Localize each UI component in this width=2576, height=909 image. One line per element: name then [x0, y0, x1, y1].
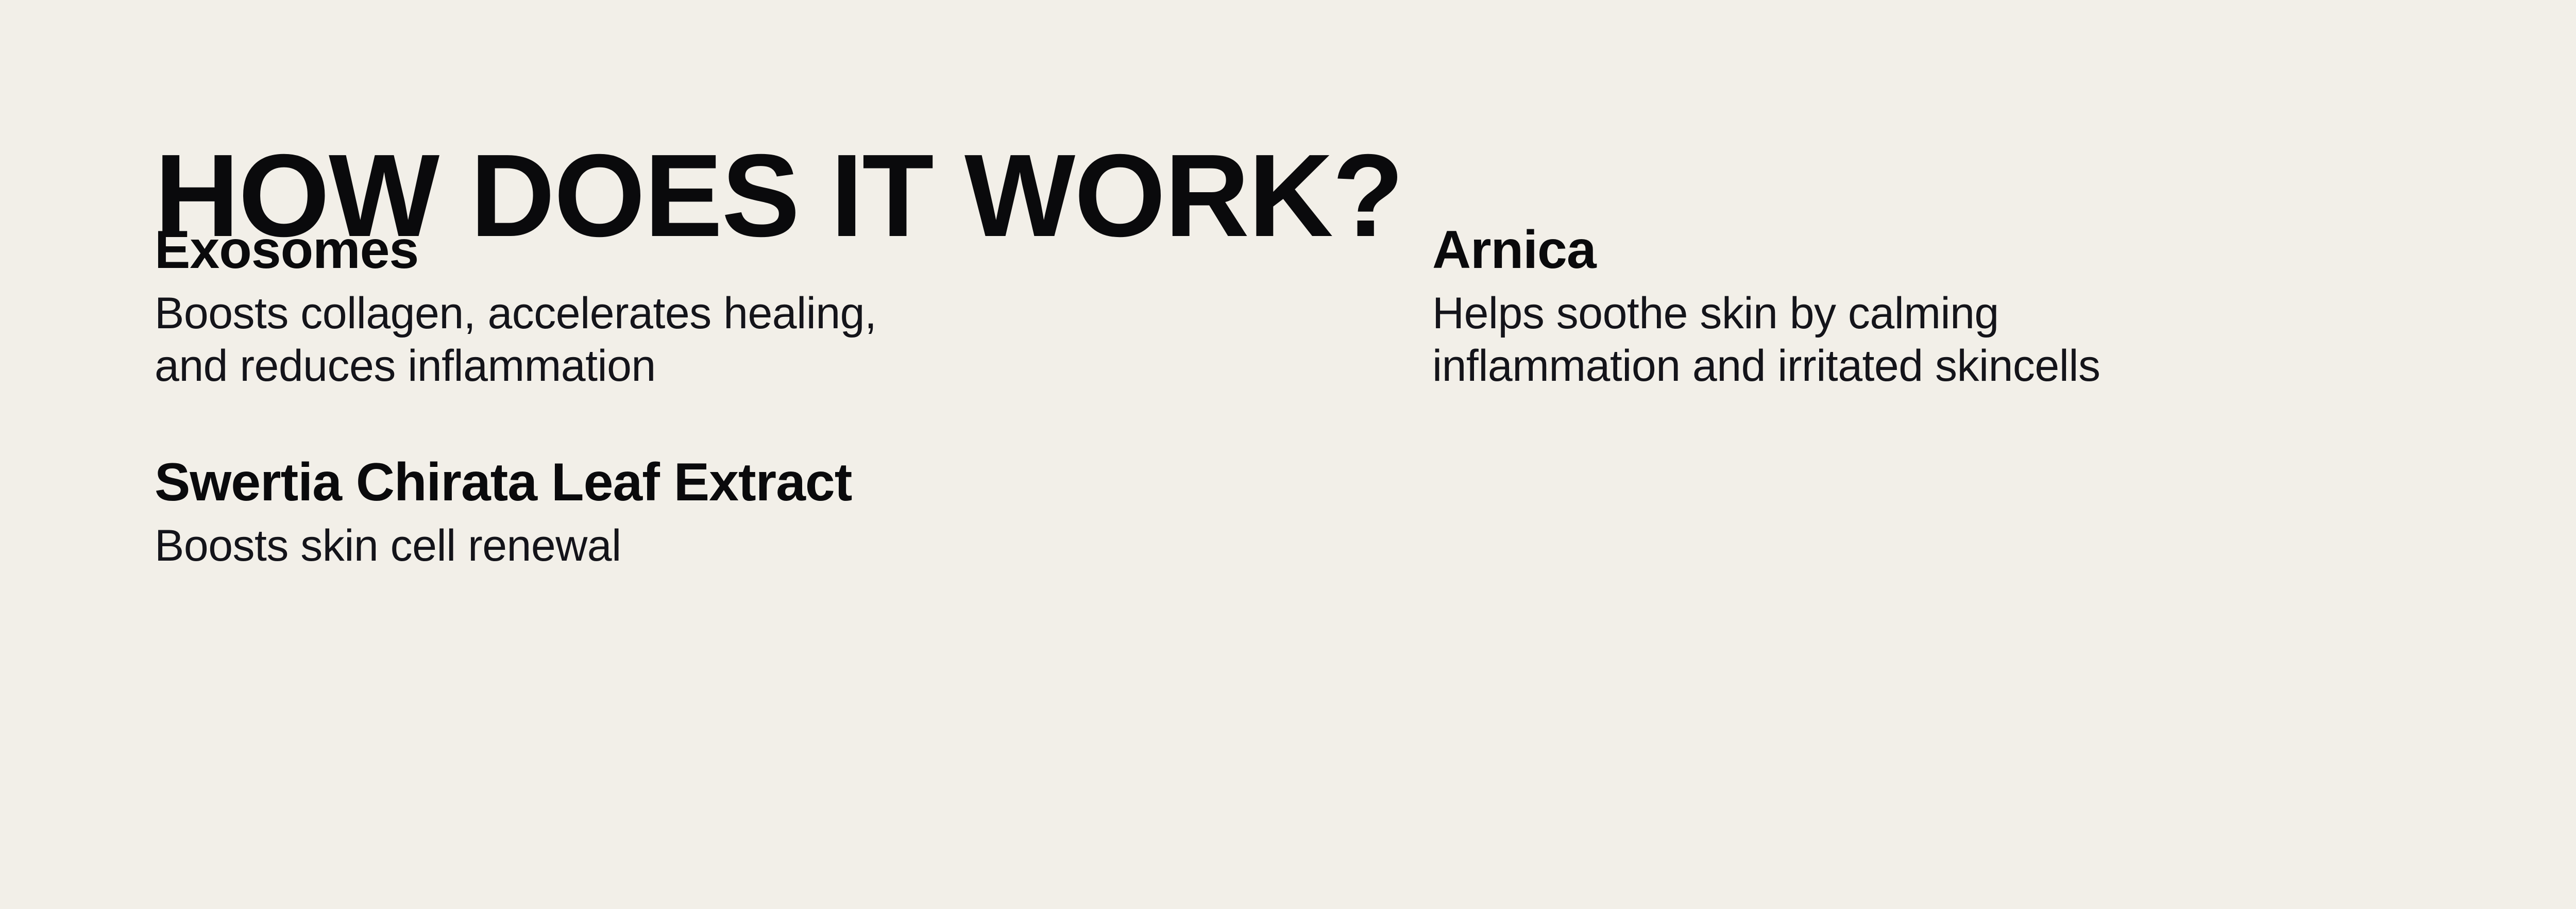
ingredient-description-swertia-chirata-leaf-extract: Boosts skin cell renewal	[155, 520, 1350, 572]
ingredient-name-arnica: Arnica	[1432, 222, 2576, 278]
ingredient-columns: Exosomes Boosts collagen, accelerates he…	[0, 222, 2576, 737]
ingredient-description-exosomes: Boosts collagen, accelerates healing, an…	[155, 288, 1350, 392]
ingredient-name-swertia-chirata-leaf-extract: Swertia Chirata Leaf Extract	[155, 454, 1365, 511]
ingredient-description-line: Helps soothe skin by calming	[1432, 288, 2576, 340]
ingredient-description-line: Boosts collagen, accelerates healing,	[155, 288, 1350, 340]
ingredient-description-line: inflammation and irritated skincells	[1432, 340, 2576, 392]
ingredient-block-arnica: Arnica Helps soothe skin by calming infl…	[1432, 222, 2576, 392]
ingredient-description-arnica: Helps soothe skin by calming inflammatio…	[1432, 288, 2576, 392]
ingredient-column-right: Arnica Helps soothe skin by calming infl…	[1432, 222, 2576, 392]
ingredient-column-left: Exosomes Boosts collagen, accelerates he…	[155, 222, 1365, 573]
ingredient-description-line: and reduces inflammation	[155, 340, 1350, 392]
ingredient-name-exosomes: Exosomes	[155, 222, 1365, 278]
how-does-it-work-slide: HOW DOES IT WORK? Exosomes Boosts collag…	[0, 0, 2576, 909]
ingredient-description-line: Boosts skin cell renewal	[155, 520, 1350, 572]
ingredient-block-swertia-chirata-leaf-extract: Swertia Chirata Leaf Extract Boosts skin…	[155, 454, 1365, 573]
ingredient-block-exosomes: Exosomes Boosts collagen, accelerates he…	[155, 222, 1365, 392]
